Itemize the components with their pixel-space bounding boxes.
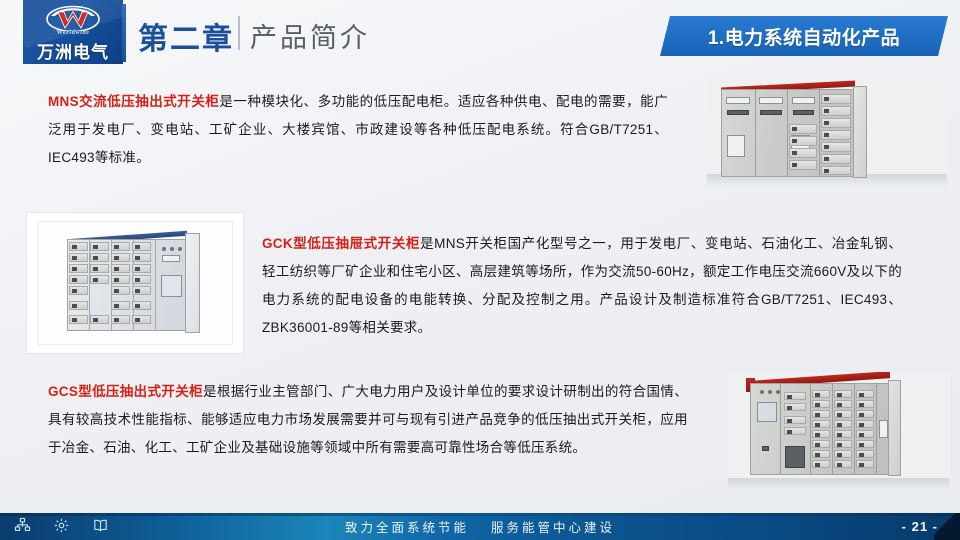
cabinet-drawer-stack (811, 388, 832, 474)
cabinet-side-panel (888, 380, 901, 476)
slide: Worldwide 万洲电气 第二章 产品简介 1.电力系统自动化产品 MNS交… (0, 0, 960, 540)
cabinet-seam (755, 89, 756, 177)
cabinet-meter (162, 255, 180, 262)
footer-slogan-left: 致力全面系统节能 (345, 517, 469, 536)
cabinet-side-panel (853, 86, 867, 178)
cabinet-seam (780, 383, 781, 475)
chapter-separator (238, 16, 240, 50)
cabinet-drawer-stack (820, 92, 853, 176)
header-divider (122, 4, 126, 62)
footer-page-number: - 21 - (902, 513, 938, 540)
paragraph-gck-highlight: GCK型低压抽屉式开关柜 (262, 236, 420, 251)
paragraph-gck: GCK型低压抽屉式开关柜是MNS开关柜国产化型号之一，用于发电厂、变电站、石油化… (262, 230, 902, 342)
photo-floor-shadow (728, 478, 950, 492)
cabinet-knob (768, 390, 772, 394)
chapter-title: 第二章 (138, 14, 234, 58)
cabinet-drawer-stack (833, 388, 854, 474)
cabinet-meter (759, 97, 783, 104)
paragraph-mns-highlight: MNS交流低压抽出式开关柜 (48, 94, 219, 109)
paragraph-mns: MNS交流低压抽出式开关柜是一种模块化、多功能的低压配电柜。适应各种供电、配电的… (48, 88, 668, 172)
cabinet-indicator (762, 446, 769, 451)
cabinet-display (785, 446, 805, 468)
slide-footer: 致力全面系统节能 服务能管中心建设 - 21 - (0, 513, 960, 540)
gcs-cabinet-photo (728, 372, 950, 492)
shield-w-icon (45, 5, 101, 31)
gck-cabinet-photo (26, 212, 244, 354)
cabinet-seam (155, 239, 156, 331)
cabinet-knob (760, 390, 764, 394)
footer-slogan: 致力全面系统节能 服务能管中心建设 (0, 513, 960, 540)
cabinet-knob (178, 247, 182, 251)
cabinet-seam (876, 383, 877, 475)
cabinet-knob (776, 390, 780, 394)
cabinet-knob (162, 247, 166, 251)
cabinet-knob (170, 247, 174, 251)
cabinet-door-window (879, 420, 888, 438)
section-banner: 1.电力系统自动化产品 (660, 16, 948, 56)
logo-subtext: Worldwide (23, 30, 123, 36)
section-banner-label: 1.电力系统自动化产品 (660, 16, 948, 56)
cabinet-door-window (727, 135, 745, 157)
paragraph-gcs: GCS型低压抽出式开关柜是根据行业主管部门、广大电力用户及设计单位的要求设计研制… (48, 378, 688, 462)
paragraph-gcs-highlight: GCS型低压抽出式开关柜 (48, 384, 203, 399)
cabinet-drawer-stack (788, 92, 819, 176)
cabinet-side-panel (185, 233, 200, 333)
cabinet-display (161, 275, 182, 297)
cabinet-display (757, 402, 777, 422)
chapter-subtitle: 产品简介 (250, 16, 370, 55)
cabinet-drawer-grid (68, 241, 154, 329)
footer-slogan-right: 服务能管中心建设 (491, 517, 615, 536)
cabinet-indicator (760, 110, 782, 115)
cabinet-meter (726, 97, 750, 104)
cabinet-indicator (727, 110, 749, 115)
company-logo: Worldwide 万洲电气 (23, 0, 123, 64)
logo-company-name: 万洲电气 (23, 38, 123, 63)
cabinet-drawer-stack (855, 388, 876, 474)
mns-cabinet-photo (707, 80, 947, 188)
footer-corner-accent (934, 513, 960, 540)
